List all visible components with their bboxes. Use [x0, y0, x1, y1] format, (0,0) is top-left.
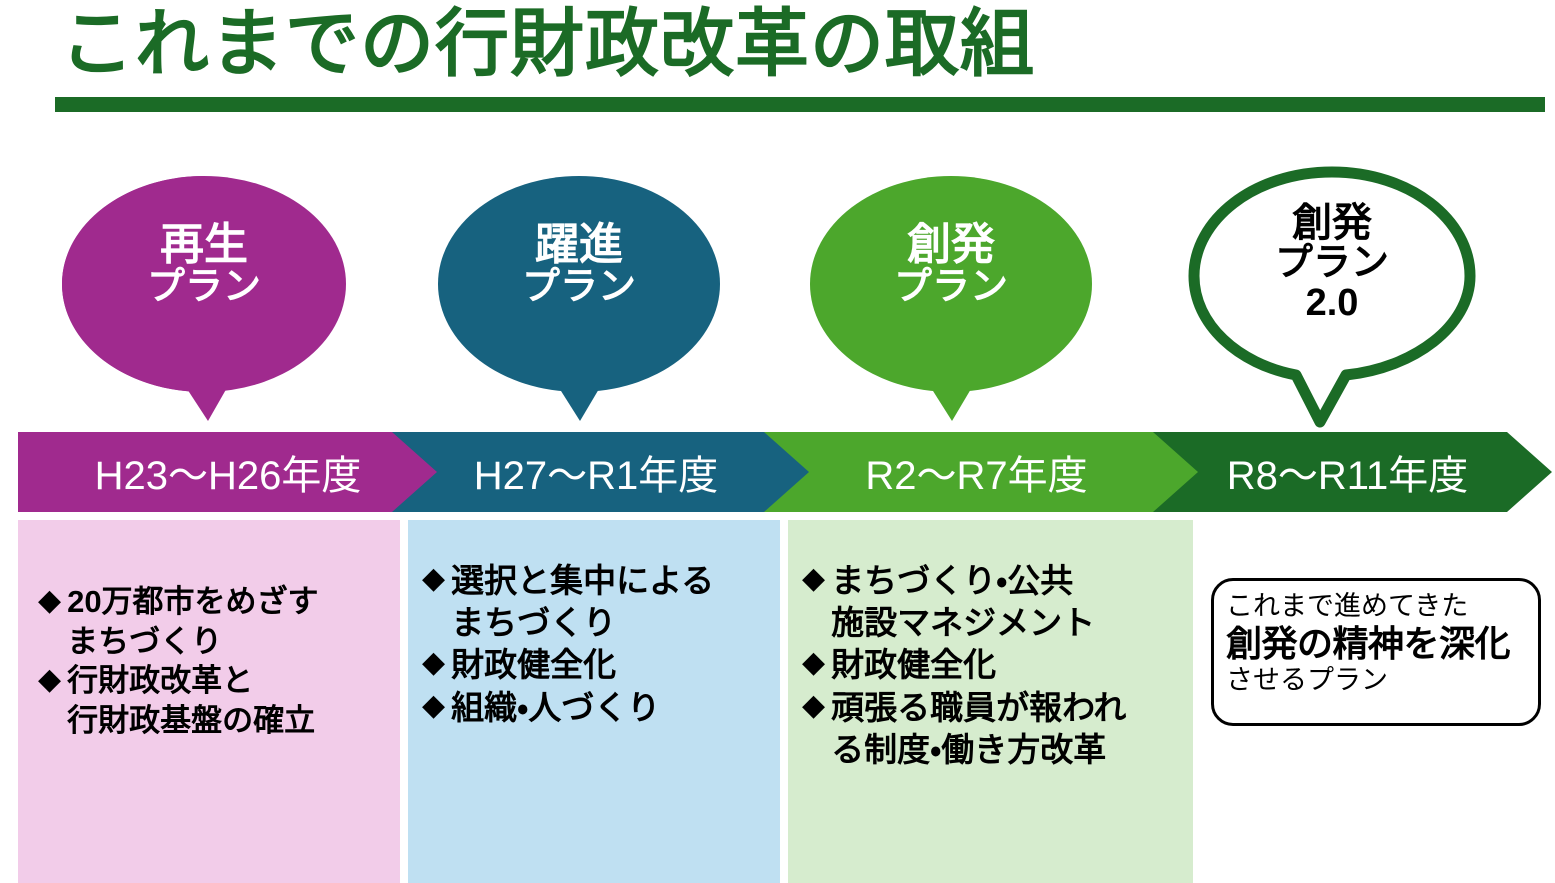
- content-panel-1: ◆ 20万都市をめざす まちづくり ◆ 行財政改革と 行財政基盤の確立: [18, 520, 400, 883]
- balloon-souhatsu-shape: [806, 172, 1096, 422]
- diamond-bullet-icon: ◆: [422, 644, 445, 682]
- period-chevron-h27-r1[interactable]: H27〜R1年度: [392, 432, 810, 512]
- bullet-item: ◆ 財政健全化: [422, 644, 774, 686]
- period-chevron-r2-r7[interactable]: R2〜R7年度: [764, 432, 1199, 512]
- title-underline-rule: [55, 97, 1545, 112]
- period-chevron-r8-r11[interactable]: R8〜R11年度: [1153, 432, 1552, 512]
- balloon-souhatsu-2: 創発 プラン 2.0: [1186, 166, 1478, 428]
- slide-root: これまでの行財政改革の取組 再生 プラン 躍進 プラン 創発: [0, 0, 1555, 883]
- period-chevron-h23-h26-label: H23〜H26年度: [18, 443, 448, 501]
- bullet-text: まちづくり・公共 施設マネジメント: [831, 560, 1187, 644]
- period-chevron-r8-r11-label: R8〜R11年度: [1153, 443, 1552, 501]
- note-box-line2: 創発の精神を深化: [1226, 623, 1530, 665]
- bullet-text: 頑張る職員が報われ る制度・働き方改革: [831, 687, 1187, 771]
- content-panel-3: ◆ まちづくり・公共 施設マネジメント ◆ 財政健全化 ◆ 頑張る職員が報われ …: [788, 520, 1193, 883]
- diamond-bullet-icon: ◆: [802, 687, 825, 725]
- bullet-item: ◆ 行財政改革と 行財政基盤の確立: [38, 661, 390, 740]
- period-chevron-r2-r7-label: R2〜R7年度: [764, 443, 1199, 501]
- content-panel-2: ◆ 選択と集中による まちづくり ◆ 財政健全化 ◆ 組織・人づくり: [408, 520, 780, 883]
- diamond-bullet-icon: ◆: [802, 644, 825, 682]
- balloon-yakushin-shape: [434, 172, 724, 422]
- diamond-bullet-icon: ◆: [802, 560, 825, 598]
- bullet-list-3: ◆ まちづくり・公共 施設マネジメント ◆ 財政健全化 ◆ 頑張る職員が報われ …: [788, 520, 1193, 771]
- diamond-bullet-icon: ◆: [38, 661, 61, 699]
- bullet-item: ◆ 選択と集中による まちづくり: [422, 560, 774, 644]
- bullet-list-1: ◆ 20万都市をめざす まちづくり ◆ 行財政改革と 行財政基盤の確立: [18, 520, 400, 741]
- bullet-text: 財政健全化: [831, 644, 1187, 686]
- balloon-souhatsu-2-shape: [1186, 166, 1478, 428]
- bullet-text: 組織・人づくり: [451, 687, 774, 729]
- balloon-souhatsu: 創発 プラン: [806, 172, 1096, 422]
- bullet-text: 選択と集中による まちづくり: [451, 560, 774, 644]
- bullet-item: ◆ 20万都市をめざす まちづくり: [38, 582, 390, 661]
- bullet-list-2: ◆ 選択と集中による まちづくり ◆ 財政健全化 ◆ 組織・人づくり: [408, 520, 780, 729]
- page-title: これまでの行財政改革の取組: [60, 0, 1035, 91]
- note-box-line3: させるプラン: [1226, 665, 1530, 697]
- note-box-line1: これまで進めてきた: [1226, 591, 1530, 623]
- bullet-text: 20万都市をめざす まちづくり: [67, 582, 390, 661]
- bullet-text: 財政健全化: [451, 644, 774, 686]
- period-chevron-h27-r1-label: H27〜R1年度: [392, 443, 810, 501]
- period-chevron-h23-h26[interactable]: H23〜H26年度: [18, 432, 448, 512]
- balloon-yakushin: 躍進 プラン: [434, 172, 724, 422]
- diamond-bullet-icon: ◆: [422, 687, 445, 725]
- bullet-item: ◆ 頑張る職員が報われ る制度・働き方改革: [802, 687, 1187, 771]
- diamond-bullet-icon: ◆: [422, 560, 445, 598]
- bullet-text: 行財政改革と 行財政基盤の確立: [67, 661, 390, 740]
- bullet-item: ◆ 組織・人づくり: [422, 687, 774, 729]
- bullet-item: ◆ 財政健全化: [802, 644, 1187, 686]
- note-box-plan-2: これまで進めてきた 創発の精神を深化 させるプラン: [1211, 578, 1541, 726]
- bullet-item: ◆ まちづくり・公共 施設マネジメント: [802, 560, 1187, 644]
- balloon-saisei-shape: [58, 172, 350, 422]
- balloon-saisei: 再生 プラン: [58, 172, 350, 422]
- diamond-bullet-icon: ◆: [38, 582, 61, 620]
